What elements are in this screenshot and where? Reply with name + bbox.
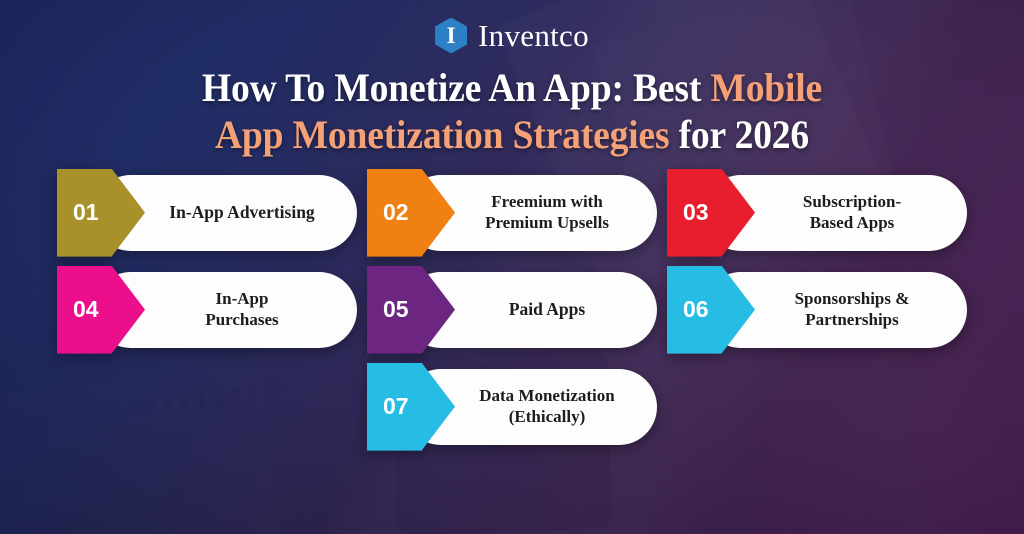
card-label: Freemium withPremium Upsells xyxy=(455,192,657,233)
brand-name: Inventco xyxy=(478,18,589,54)
strategy-card[interactable]: 07 Data Monetization(Ethically) xyxy=(367,369,657,445)
card-number: 03 xyxy=(667,199,709,226)
strategy-row-2: 04 In-AppPurchases 05 Paid Apps 06 Spons… xyxy=(0,272,1024,348)
strategy-row-1: 01 In-App Advertising 02 Freemium withPr… xyxy=(0,175,1024,251)
card-label: Paid Apps xyxy=(455,299,657,320)
title-text-white: for 2026 xyxy=(669,112,809,157)
strategy-list: 01 In-App Advertising 02 Freemium withPr… xyxy=(0,175,1024,445)
strategy-row-3: 07 Data Monetization(Ethically) xyxy=(0,369,1024,445)
card-number: 02 xyxy=(367,199,409,226)
page-title-line-1: How To Monetize An App: Best Mobile xyxy=(31,65,994,112)
card-number: 07 xyxy=(367,393,409,420)
strategy-card[interactable]: 05 Paid Apps xyxy=(367,272,657,348)
card-number: 06 xyxy=(667,296,709,323)
card-label: Sponsorships &Partnerships xyxy=(755,289,967,330)
strategy-card[interactable]: 02 Freemium withPremium Upsells xyxy=(367,175,657,251)
title-text-white: How To Monetize An App: Best xyxy=(202,65,710,110)
card-number: 01 xyxy=(57,199,99,226)
strategy-card[interactable]: 01 In-App Advertising xyxy=(57,175,357,251)
card-number: 05 xyxy=(367,296,409,323)
infographic-content: I Inventco How To Monetize An App: Best … xyxy=(0,0,1024,534)
logo-letter: I xyxy=(447,24,456,47)
brand-logo: I Inventco xyxy=(0,0,1024,54)
strategy-card[interactable]: 03 Subscription-Based Apps xyxy=(667,175,967,251)
hexagon-logo-icon: I xyxy=(435,18,467,54)
card-label: Subscription-Based Apps xyxy=(755,192,967,233)
page-title-line-2: App Monetization Strategies for 2026 xyxy=(31,112,994,159)
card-label: In-AppPurchases xyxy=(145,289,357,330)
strategy-card[interactable]: 06 Sponsorships &Partnerships xyxy=(667,272,967,348)
title-text-accent: Mobile xyxy=(710,65,822,110)
card-number: 04 xyxy=(57,296,99,323)
card-label: Data Monetization(Ethically) xyxy=(455,386,657,427)
card-label: In-App Advertising xyxy=(145,202,357,223)
strategy-card[interactable]: 04 In-AppPurchases xyxy=(57,272,357,348)
title-text-accent: App Monetization Strategies xyxy=(215,112,669,157)
page-title: How To Monetize An App: Best Mobile App … xyxy=(31,65,994,159)
